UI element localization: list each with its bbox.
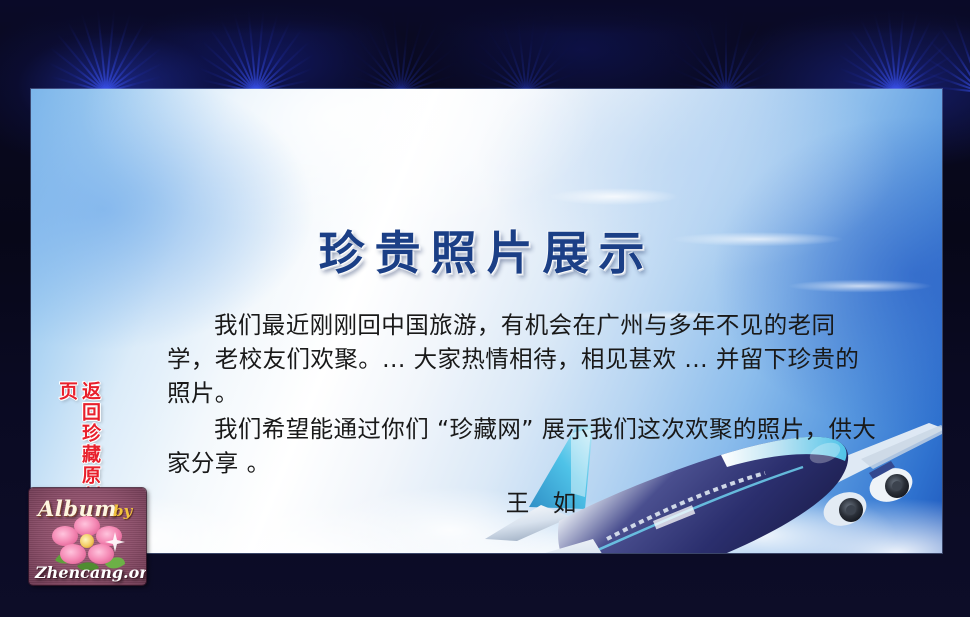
page-title: 珍贵照片展示 bbox=[31, 217, 942, 283]
letter-paragraph-2: 我们希望能通过你们 “珍藏网” 展示我们这次欢聚的照片，供大家分享 。 bbox=[167, 412, 883, 480]
album-badge[interactable]: Album by bbox=[29, 488, 146, 585]
screenshot-root: 珍贵照片展示 我们最近刚刚回中国旅游，有机会在广州与多年不见的老同学，老校友们欢… bbox=[0, 0, 970, 617]
letter-signature: 王 如 bbox=[167, 486, 883, 520]
badge-site-label: Zhencang.org bbox=[35, 563, 140, 582]
letter-paragraph-1: 我们最近刚刚回中国旅游，有机会在广州与多年不见的老同学，老校友们欢聚。... 大… bbox=[167, 308, 883, 410]
top-haze bbox=[0, 0, 970, 34]
photo-panel: 珍贵照片展示 我们最近刚刚回中国旅游，有机会在广州与多年不见的老同学，老校友们欢… bbox=[31, 89, 942, 553]
letter-body: 我们最近刚刚回中国旅游，有机会在广州与多年不见的老同学，老校友们欢聚。... 大… bbox=[167, 308, 883, 520]
